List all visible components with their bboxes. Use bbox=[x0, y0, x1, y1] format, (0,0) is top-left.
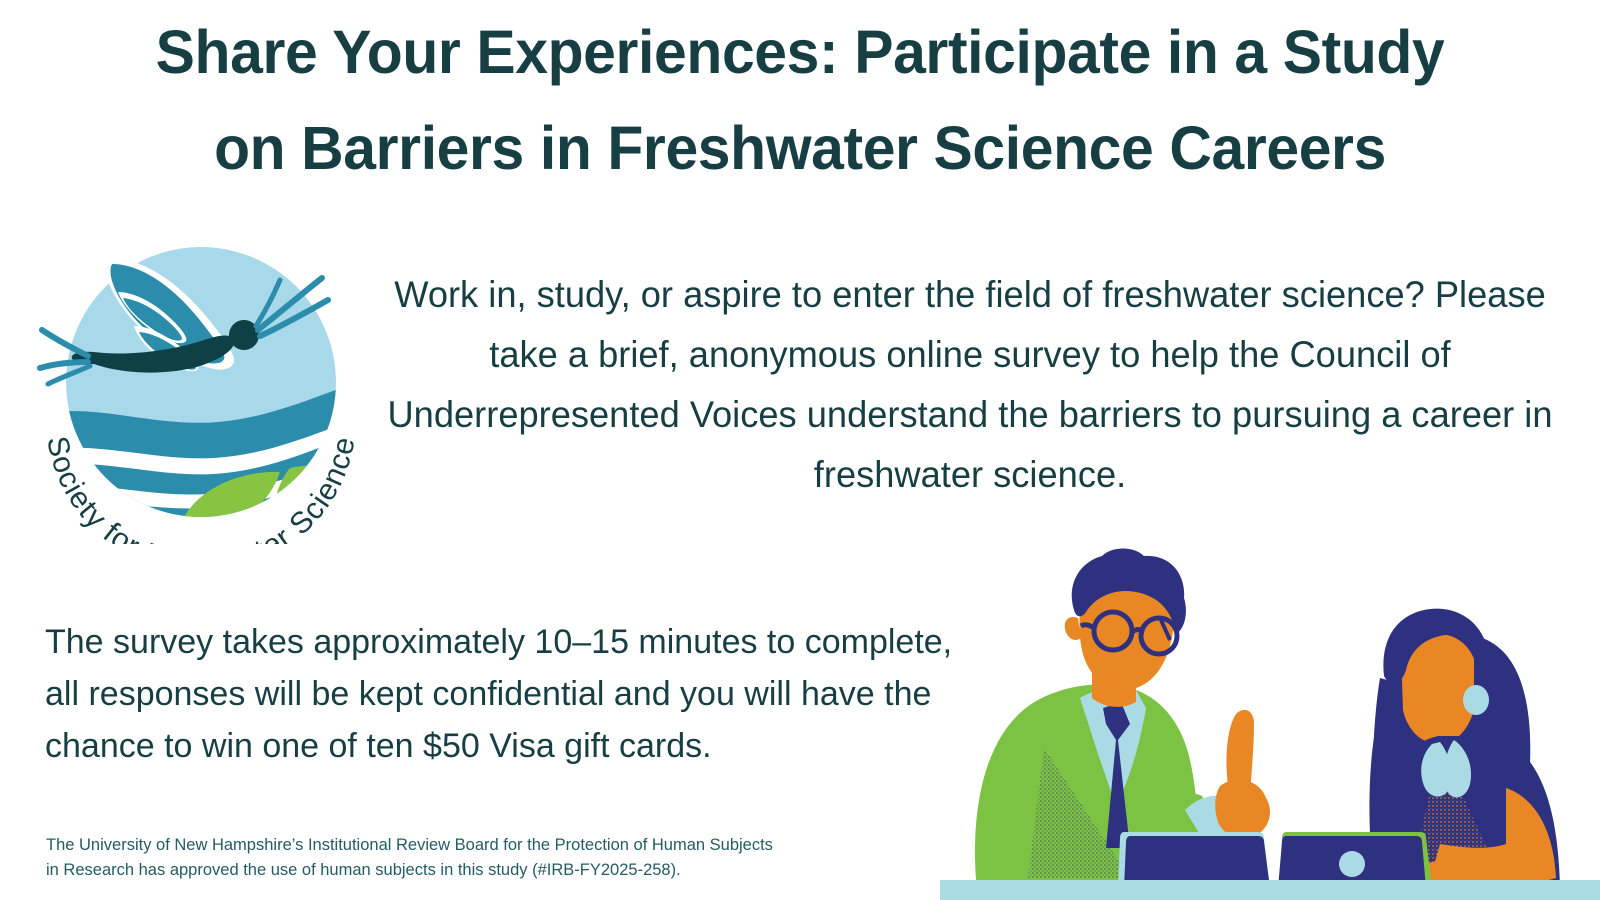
index-finger bbox=[1226, 710, 1254, 792]
irb-fineprint-line-2: in Research has approved the use of huma… bbox=[46, 858, 946, 883]
woman-earring bbox=[1463, 685, 1489, 715]
two-people-at-laptops-illustration bbox=[940, 548, 1600, 900]
desk-surface bbox=[940, 884, 1600, 900]
irb-fineprint-line-1: The University of New Hampshire’s Instit… bbox=[46, 833, 946, 858]
page-title: Share Your Experiences: Participate in a… bbox=[0, 4, 1600, 196]
title-line-1: Share Your Experiences: Participate in a… bbox=[28, 4, 1572, 100]
society-for-freshwater-science-logo: Society for Freshwater Science bbox=[28, 222, 374, 544]
laptop-left bbox=[1118, 832, 1270, 888]
survey-details-paragraph: The survey takes approximately 10–15 min… bbox=[45, 616, 955, 772]
title-line-2: on Barriers in Freshwater Science Career… bbox=[28, 100, 1572, 196]
intro-paragraph: Work in, study, or aspire to enter the f… bbox=[384, 265, 1556, 505]
laptop-logo-icon bbox=[1339, 851, 1365, 877]
poster-canvas: Share Your Experiences: Participate in a… bbox=[0, 0, 1600, 900]
laptop-right bbox=[1278, 832, 1432, 888]
irb-fineprint: The University of New Hampshire’s Instit… bbox=[46, 833, 946, 883]
